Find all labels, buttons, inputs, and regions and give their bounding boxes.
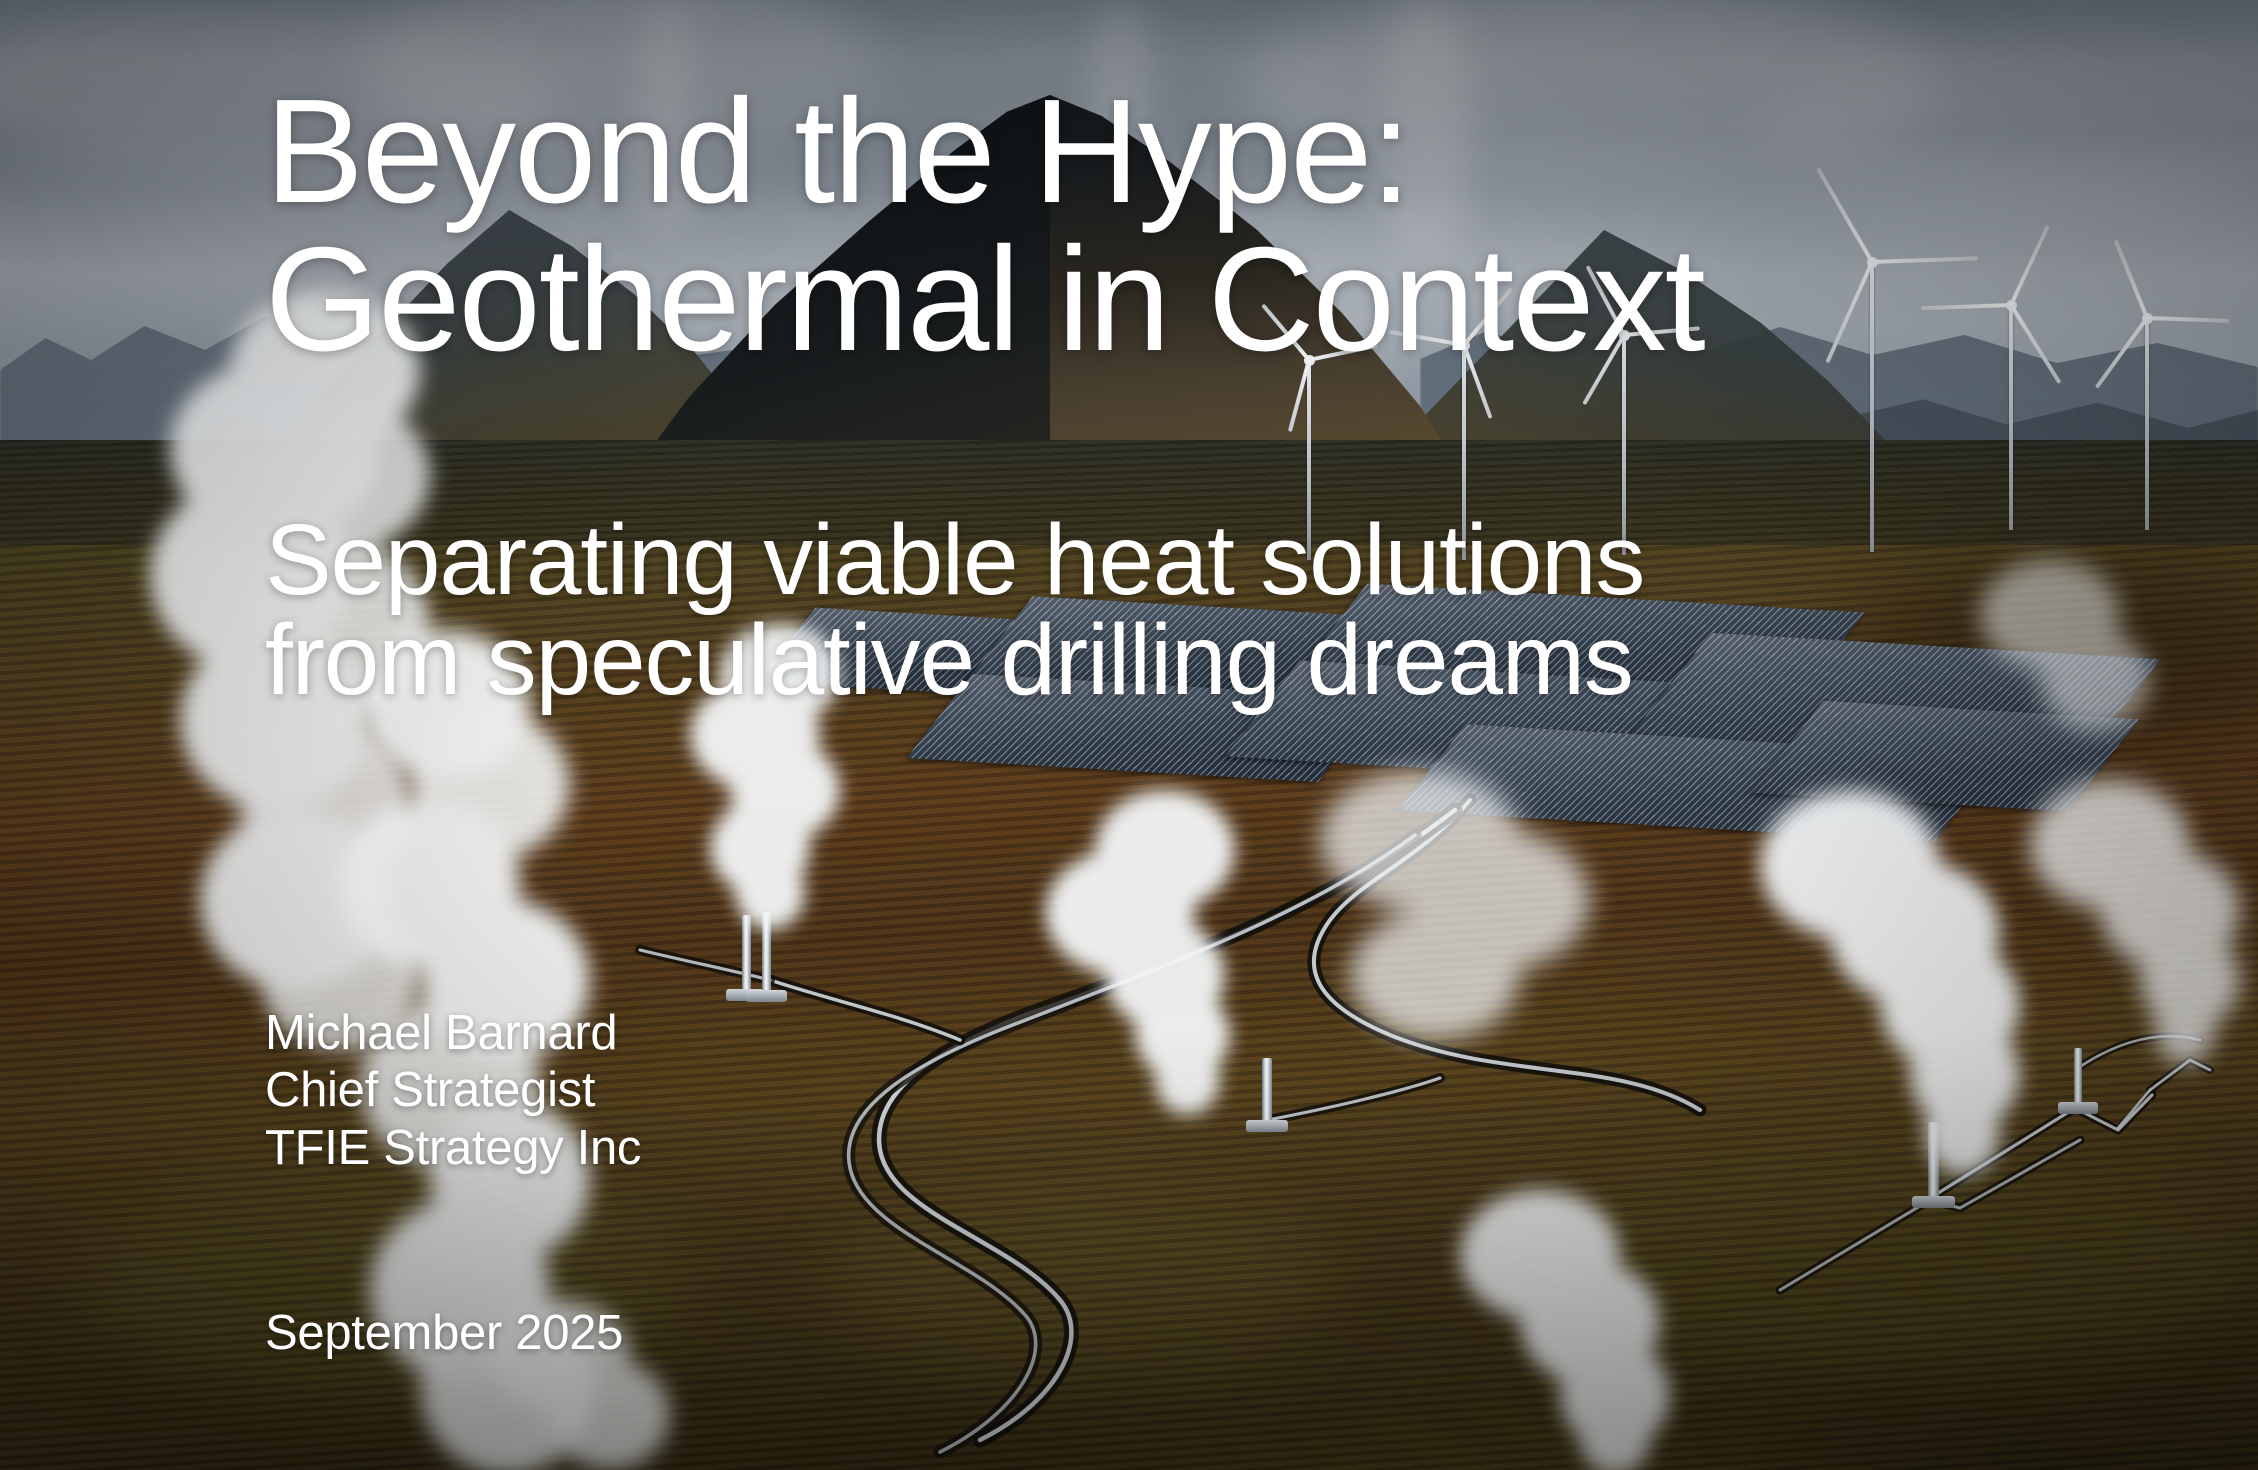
title-slide: Beyond the Hype: Geothermal in Context S… [0,0,2258,1470]
presenter-name: Michael Barnard [265,1005,641,1062]
slide-subtitle: Separating viable heat solutions from sp… [265,510,2025,710]
presenter-organization: TFIE Strategy Inc [265,1120,641,1177]
presentation-date: September 2025 [265,1305,623,1361]
slide-text-layer: Beyond the Hype: Geothermal in Context S… [0,0,2258,1470]
slide-title: Beyond the Hype: Geothermal in Context [265,78,2065,374]
presenter-role: Chief Strategist [265,1062,641,1119]
presenter-byline: Michael Barnard Chief Strategist TFIE St… [265,1005,641,1177]
